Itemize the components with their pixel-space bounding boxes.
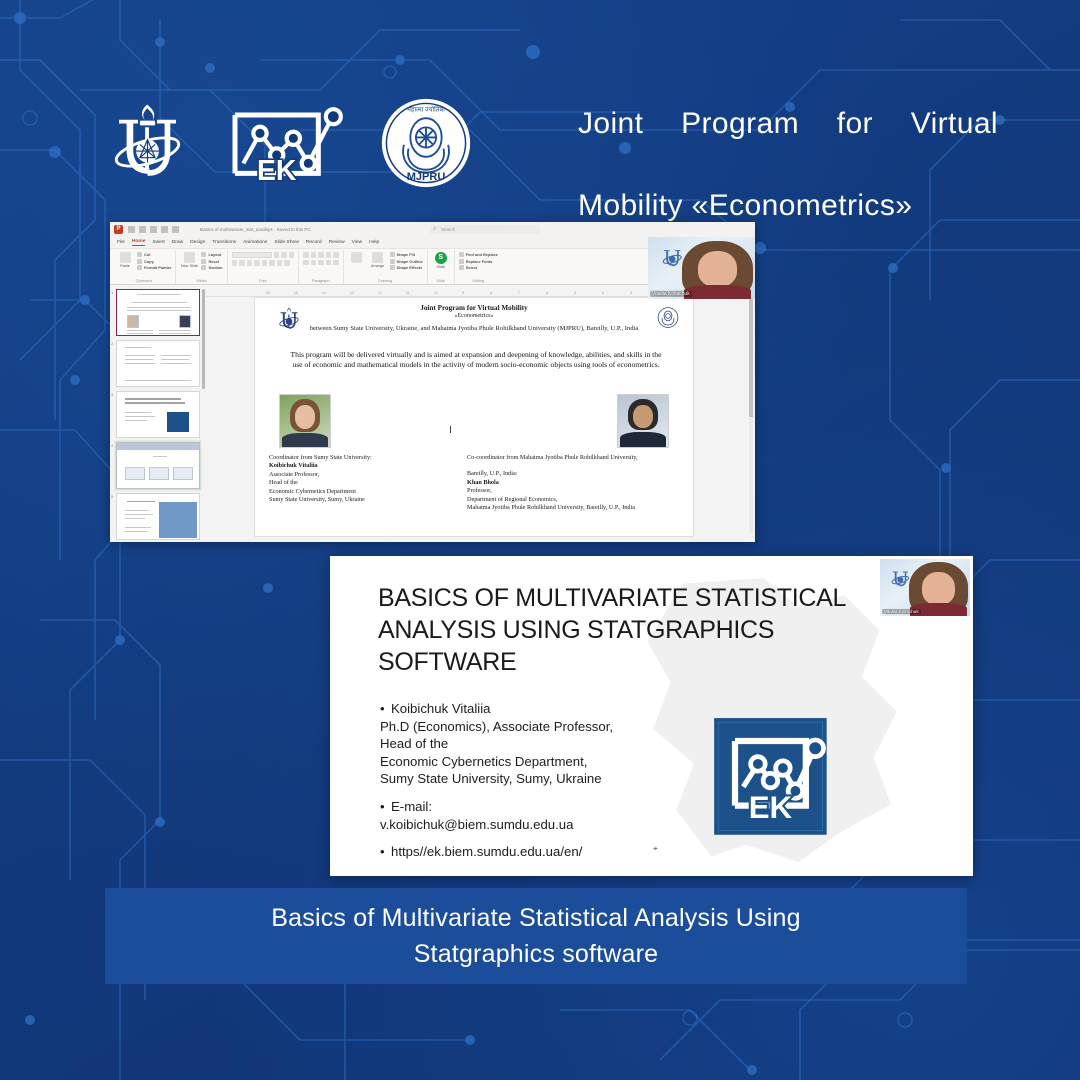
bullet-0-line-4: Sumy State University, Sumy, Ukraine [380, 770, 650, 788]
group-label-slido: Slido [432, 279, 450, 284]
new-slide-button[interactable]: New Slide [180, 252, 198, 268]
powerpoint-app-icon: P [114, 225, 123, 234]
fill-icon [390, 252, 395, 257]
shapes-icon [351, 252, 362, 263]
shape-outline-button[interactable]: Shape Outline [390, 259, 423, 264]
brush-icon [137, 265, 142, 270]
bullet-1-line-1: v.koibichuk@biem.sumdu.edu.ua [380, 816, 650, 834]
tab-transitions[interactable]: Transitions [212, 240, 236, 245]
slido-icon: S [435, 252, 447, 264]
slide1-cocoordinator-name: Khan Bhola [467, 479, 499, 486]
thumbnail-image [116, 493, 200, 540]
shape-fill-button[interactable]: Shape Fill [390, 252, 423, 257]
sumy-state-university-logo [100, 95, 195, 190]
paste-button[interactable]: Paste [116, 252, 134, 268]
caption-banner: Basics of Multivariate Statistical Analy… [105, 888, 967, 984]
font-family-select[interactable] [232, 252, 272, 258]
ek-logo-label: EK [749, 790, 793, 825]
thumbnail-number: 4 [111, 443, 113, 448]
mouse-cursor: ⌖ [653, 844, 658, 854]
align-left-icon[interactable] [303, 260, 309, 266]
bold-icon[interactable] [232, 260, 238, 266]
shapes-gallery[interactable] [348, 252, 366, 263]
slide1-left-line-3: Sumy State University, Sumy, Ukraine [269, 496, 461, 504]
ribbon-group-clipboard[interactable]: Paste Cut Copy Format Painter Clipboard [112, 250, 176, 284]
italic-icon[interactable] [239, 260, 245, 266]
paragraph-row-1[interactable] [303, 252, 339, 258]
caption-line2: Statgraphics software [271, 936, 800, 972]
reset-icon [201, 259, 206, 264]
slide1-right-line-2: Mahatma Jyotiba Phule Rohilkhand Univers… [467, 504, 689, 512]
webcam-person [682, 241, 753, 299]
slide-editing-pane[interactable]: 1615 1413 1211 109 87 65 43 21 [206, 285, 755, 542]
tab-record[interactable]: Record [306, 240, 322, 245]
tab-insert[interactable]: Insert [152, 240, 164, 245]
select-button[interactable]: Select [459, 265, 498, 270]
slide-canvas[interactable]: Joint Program for Virtual Mobility «Econ… [254, 297, 694, 537]
save-icon[interactable] [139, 226, 146, 233]
caption-line1: Basics of Multivariate Statistical Analy… [271, 900, 800, 936]
logo-row: EK MJPRU महात्मा ज्योतिबा [100, 95, 472, 190]
replace-icon [459, 259, 464, 264]
slide1-left-line-1: Head of the [269, 479, 461, 487]
slide-thumbnail-pane[interactable]: 1 2 [110, 285, 206, 542]
decrease-font-icon[interactable] [289, 252, 295, 258]
text-cursor [450, 426, 451, 433]
text-highlight-icon[interactable] [277, 260, 283, 266]
select-icon [459, 265, 464, 270]
thumbnail-image [116, 289, 200, 336]
align-right-icon[interactable] [318, 260, 324, 266]
tab-draw[interactable]: Draw [172, 240, 183, 245]
slide1-coordinator-name: Koibichuk Vitaliia [269, 462, 318, 469]
group-label-slides: Slides [180, 279, 222, 284]
powerpoint-titlebar: P Basics of multivariate_stat_analisys -… [110, 222, 755, 237]
character-spacing-icon[interactable] [269, 260, 275, 266]
thumbnail-number: 1 [111, 290, 113, 295]
reset-button[interactable]: Reset [201, 259, 222, 264]
outline-icon [390, 259, 395, 264]
page-title-line2: Mobility «Econometrics» [578, 189, 912, 222]
tab-help[interactable]: Help [369, 240, 379, 245]
participant-name-label: Vitaliia Koibichuk [650, 291, 692, 297]
group-label-drawing: Drawing [348, 279, 423, 284]
strikethrough-icon[interactable] [254, 260, 260, 266]
increase-font-icon[interactable] [281, 252, 287, 258]
copy-button[interactable]: Copy [137, 259, 171, 264]
increase-indent-icon[interactable] [326, 252, 332, 258]
tab-slide-show[interactable]: Slide Show [274, 240, 298, 245]
ek-department-logo-slide2: EK [710, 716, 835, 841]
undo-icon[interactable] [150, 226, 157, 233]
slide-thumbnail-2[interactable]: 2 [116, 340, 203, 387]
underline-icon[interactable] [247, 260, 253, 266]
powerpoint-body: 1 2 [110, 285, 755, 542]
slide1-cocoordinator-location: Bareilly, U.P., India: [467, 470, 689, 478]
justify-icon[interactable] [326, 260, 332, 266]
bullet-2-line-0: https//ek.biem.sumdu.edu.ua/en/ [391, 844, 582, 859]
slide1-cocoordinator-photo [617, 394, 669, 448]
find-replace-button[interactable]: Find and Replace [459, 252, 498, 257]
bullet-marker: • [380, 843, 391, 861]
thumbnail-image [116, 391, 200, 438]
svg-text:महात्मा ज्योतिबा: महात्मा ज्योतिबा [407, 105, 445, 113]
new-slide-icon [184, 252, 195, 263]
paste-icon [120, 252, 131, 263]
slide1-right-column: Co-coordinator from Mahatma Jyotiba Phul… [467, 454, 689, 512]
quick-access-toolbar[interactable] [128, 226, 179, 233]
group-label-paragraph: Paragraph [303, 279, 339, 284]
list-item: •Koibichuk Vitaliia Ph.D (Economics), As… [380, 700, 650, 788]
effects-icon [390, 265, 395, 270]
bullets-icon[interactable] [303, 252, 309, 258]
section-icon [201, 265, 206, 270]
ribbon-group-slides[interactable]: New Slide Layout Reset Section Slides [176, 250, 227, 284]
powerpoint-window[interactable]: P Basics of multivariate_stat_analisys -… [110, 222, 755, 542]
layout-icon [201, 252, 206, 257]
thumbnail-number: 2 [111, 341, 113, 346]
scissors-icon [137, 252, 142, 257]
copy-icon [137, 259, 142, 264]
tab-view[interactable]: View [352, 240, 363, 245]
shadow-icon[interactable] [262, 260, 268, 266]
slide1-coordinator-role: Coordinator from Sumy State University: [269, 454, 461, 462]
redo-icon[interactable] [161, 226, 168, 233]
tab-design[interactable]: Design [190, 240, 205, 245]
slide1-right-line-1: Department of Regional Economics, [467, 496, 689, 504]
slide1-coordinator-photo [279, 394, 331, 448]
ek-department-logo: EK [225, 100, 350, 185]
line-spacing-icon[interactable] [333, 252, 339, 258]
font-row-1[interactable] [232, 252, 295, 258]
bullet-0-line-0: Koibichuk Vitaliia [391, 701, 490, 716]
page-title: Joint Program for Virtual Mobility «Econ… [578, 103, 998, 226]
ribbon-group-paragraph[interactable]: Paragraph [299, 250, 344, 284]
shape-effects-button[interactable]: Shape Effects [390, 265, 423, 270]
slide-thumbnail-1[interactable]: 1 [116, 289, 203, 336]
slide2-title-line2: ANALYSIS USING STATGRAPHICS SOFTWARE [378, 614, 898, 678]
slide-thumbnail-4[interactable]: 4 [116, 442, 203, 489]
list-item: •https//ek.biem.sumdu.edu.ua/en/ [380, 843, 650, 861]
bullet-marker: • [380, 700, 391, 718]
slide1-left-column: Coordinator from Sumy State University: … [269, 454, 461, 504]
tab-animations[interactable]: Animations [243, 240, 267, 245]
search-box[interactable]: Search [430, 225, 540, 234]
paragraph-row-2[interactable] [303, 260, 339, 266]
numbering-icon[interactable] [311, 252, 317, 258]
page-title-line1: Joint Program for Virtual [578, 103, 998, 185]
svg-text:EK: EK [257, 155, 297, 185]
presentation-slide-2[interactable]: BASICS OF MULTIVARIATE STATISTICAL ANALY… [330, 556, 973, 876]
bullet-1-line-0: E-mail: [391, 799, 432, 814]
format-painter-button[interactable]: Format Painter [137, 265, 171, 270]
group-label-editing: Editing [459, 279, 498, 284]
thumbnail-image [116, 340, 200, 387]
more-icon[interactable] [172, 226, 179, 233]
slide1-right-line-0: Professor, [467, 487, 689, 495]
font-row-2[interactable] [232, 260, 295, 266]
arrange-icon [372, 252, 383, 263]
document-filename: Basics of multivariate_stat_analisys - S… [200, 227, 311, 232]
cut-button[interactable]: Cut [137, 252, 171, 257]
slide1-subtitle: «Econometrics» [255, 313, 693, 319]
slide2-bullet-list: •Koibichuk Vitaliia Ph.D (Economics), As… [380, 700, 650, 871]
font-size-select[interactable] [274, 252, 280, 258]
webcam-overlay-slide2[interactable]: Vitaliia Koibichuk [880, 559, 970, 616]
svg-text:MJPRU: MJPRU [407, 170, 446, 182]
bullet-marker: • [380, 798, 391, 816]
arrange-button[interactable]: Arrange [369, 252, 387, 268]
decrease-indent-icon[interactable] [318, 252, 324, 258]
tab-home[interactable]: Home [132, 239, 146, 246]
bullet-0-line-2: Head of the [380, 735, 650, 753]
columns-icon[interactable] [333, 260, 339, 266]
ribbon-group-editing[interactable]: Find and Replace Replace Fonts Select Ed… [455, 250, 502, 284]
thumbnail-image [116, 442, 200, 489]
align-center-icon[interactable] [311, 260, 317, 266]
ribbon-group-slido[interactable]: S Slido Slido [428, 250, 455, 284]
group-label-font: Font [232, 279, 295, 284]
group-label-clipboard: Clipboard [116, 279, 171, 284]
slide1-between-text: between Sumy State University, Ukraine, … [299, 325, 649, 334]
layout-button[interactable]: Layout [201, 252, 222, 257]
webcam-person [909, 562, 968, 616]
thumbnail-scrollbar[interactable] [202, 289, 205, 389]
slide-vertical-scrollbar[interactable] [749, 297, 753, 533]
section-button[interactable]: Section [201, 265, 222, 270]
replace-fonts-button[interactable]: Replace Fonts [459, 259, 498, 264]
slide1-left-line-2: Economic Cybernetics Department [269, 488, 461, 496]
font-color-icon[interactable] [284, 260, 290, 266]
ribbon-group-font[interactable]: Font [228, 250, 300, 284]
slido-button[interactable]: S Slido [432, 252, 450, 269]
autosave-toggle[interactable] [128, 226, 135, 233]
list-item: •E-mail: v.koibichuk@biem.sumdu.edu.ua [380, 798, 650, 833]
caption-text: Basics of Multivariate Statistical Analy… [271, 900, 800, 972]
slide2-title: BASICS OF MULTIVARIATE STATISTICAL ANALY… [378, 582, 898, 678]
slide1-title: Joint Program for Virtual Mobility [255, 304, 693, 312]
slide-thumbnail-3[interactable]: 3 [116, 391, 203, 438]
bullet-0-line-3: Economic Cybernetics Department, [380, 753, 650, 771]
header: EK MJPRU महात्मा ज्योतिबा Joint Program … [0, 95, 1080, 210]
slide1-left-line-0: Associate Professor, [269, 471, 461, 479]
thumbnail-number: 5 [111, 494, 113, 499]
search-icon [459, 252, 464, 257]
slide1-cocoordinator-role: Co-coordinator from Mahatma Jyotiba Phul… [467, 454, 689, 462]
mjpru-logo: MJPRU महात्मा ज्योतिबा [380, 97, 472, 189]
webcam-overlay-powerpoint[interactable]: Vitaliia Koibichuk [648, 237, 755, 299]
slide2-title-line1: BASICS OF MULTIVARIATE STATISTICAL [378, 582, 898, 614]
thumbnail-number: 3 [111, 392, 113, 397]
slide1-description: This program will be delivered virtually… [285, 350, 667, 369]
participant-name-label: Vitaliia Koibichuk [882, 609, 921, 614]
tab-review[interactable]: Review [329, 240, 345, 245]
bullet-0-line-1: Ph.D (Economics), Associate Professor, [380, 718, 650, 736]
ribbon-group-drawing[interactable]: Arrange Shape Fill Shape Outline Shape E… [344, 250, 428, 284]
tab-file[interactable]: File [117, 240, 125, 245]
slide-thumbnail-5[interactable]: 5 [116, 493, 203, 540]
